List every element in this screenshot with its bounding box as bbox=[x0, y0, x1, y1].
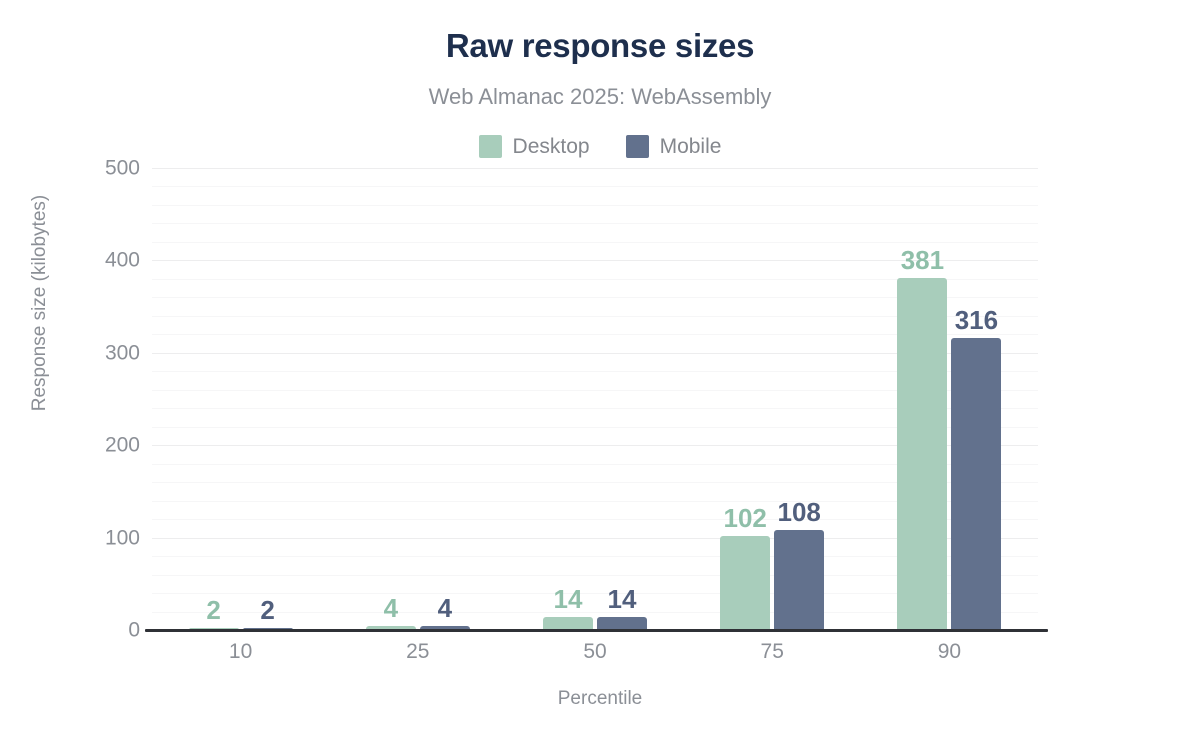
y-axis-tick-label: 100 bbox=[70, 527, 140, 548]
y-axis-tick-label: 0 bbox=[70, 620, 140, 641]
bar-value-label: 4 bbox=[438, 595, 452, 621]
bar-group: 381316 bbox=[861, 168, 1038, 630]
bar-value-label: 102 bbox=[724, 505, 767, 531]
y-axis-title: Response size (kilobytes) bbox=[29, 103, 51, 503]
y-axis-tick-label: 300 bbox=[70, 342, 140, 363]
chart-subtitle: Web Almanac 2025: WebAssembly bbox=[0, 84, 1200, 110]
x-axis-tick-label: 50 bbox=[506, 640, 683, 670]
chart-title: Raw response sizes bbox=[0, 27, 1200, 65]
legend-item-desktop[interactable]: Desktop bbox=[479, 135, 590, 158]
bar-value-label: 2 bbox=[206, 597, 220, 623]
legend-label-desktop: Desktop bbox=[513, 136, 590, 157]
bar-value-label: 14 bbox=[608, 586, 637, 612]
bar-mobile-p75[interactable]: 108 bbox=[774, 530, 824, 630]
bar-group: 44 bbox=[329, 168, 506, 630]
legend-swatch-mobile bbox=[626, 135, 649, 158]
bar-group: 22 bbox=[152, 168, 329, 630]
bar-value-label: 108 bbox=[778, 499, 821, 525]
legend-label-mobile: Mobile bbox=[660, 136, 722, 157]
bar-value-label: 14 bbox=[554, 586, 583, 612]
y-axis-tick-label: 200 bbox=[70, 435, 140, 456]
x-axis-tick-label: 10 bbox=[152, 640, 329, 670]
x-axis-tick-label: 75 bbox=[684, 640, 861, 670]
x-axis-tick-label: 25 bbox=[329, 640, 506, 670]
x-axis-tick-label: 90 bbox=[861, 640, 1038, 670]
bar-value-label: 4 bbox=[384, 595, 398, 621]
bar-value-label: 381 bbox=[901, 247, 944, 273]
bars-layer: 22441414102108381316 bbox=[152, 168, 1038, 630]
legend-swatch-desktop bbox=[479, 135, 502, 158]
chart-container: Raw response sizes Web Almanac 2025: Web… bbox=[0, 0, 1200, 742]
bar-group: 102108 bbox=[684, 168, 861, 630]
bar-desktop-p75[interactable]: 102 bbox=[720, 536, 770, 630]
y-axis-tick-label: 400 bbox=[70, 250, 140, 271]
chart-legend: Desktop Mobile bbox=[0, 135, 1200, 158]
bar-value-label: 316 bbox=[955, 307, 998, 333]
y-axis-ticks: 0100200300400500 bbox=[62, 168, 140, 630]
x-axis-ticks: 1025507590 bbox=[152, 640, 1038, 670]
bar-mobile-p90[interactable]: 316 bbox=[951, 338, 1001, 630]
legend-item-mobile[interactable]: Mobile bbox=[626, 135, 722, 158]
bar-group: 1414 bbox=[506, 168, 683, 630]
x-axis-title: Percentile bbox=[0, 688, 1200, 710]
bar-desktop-p90[interactable]: 381 bbox=[897, 278, 947, 630]
bar-value-label: 2 bbox=[260, 597, 274, 623]
y-axis-tick-label: 500 bbox=[70, 158, 140, 179]
x-axis-line bbox=[145, 629, 1048, 632]
